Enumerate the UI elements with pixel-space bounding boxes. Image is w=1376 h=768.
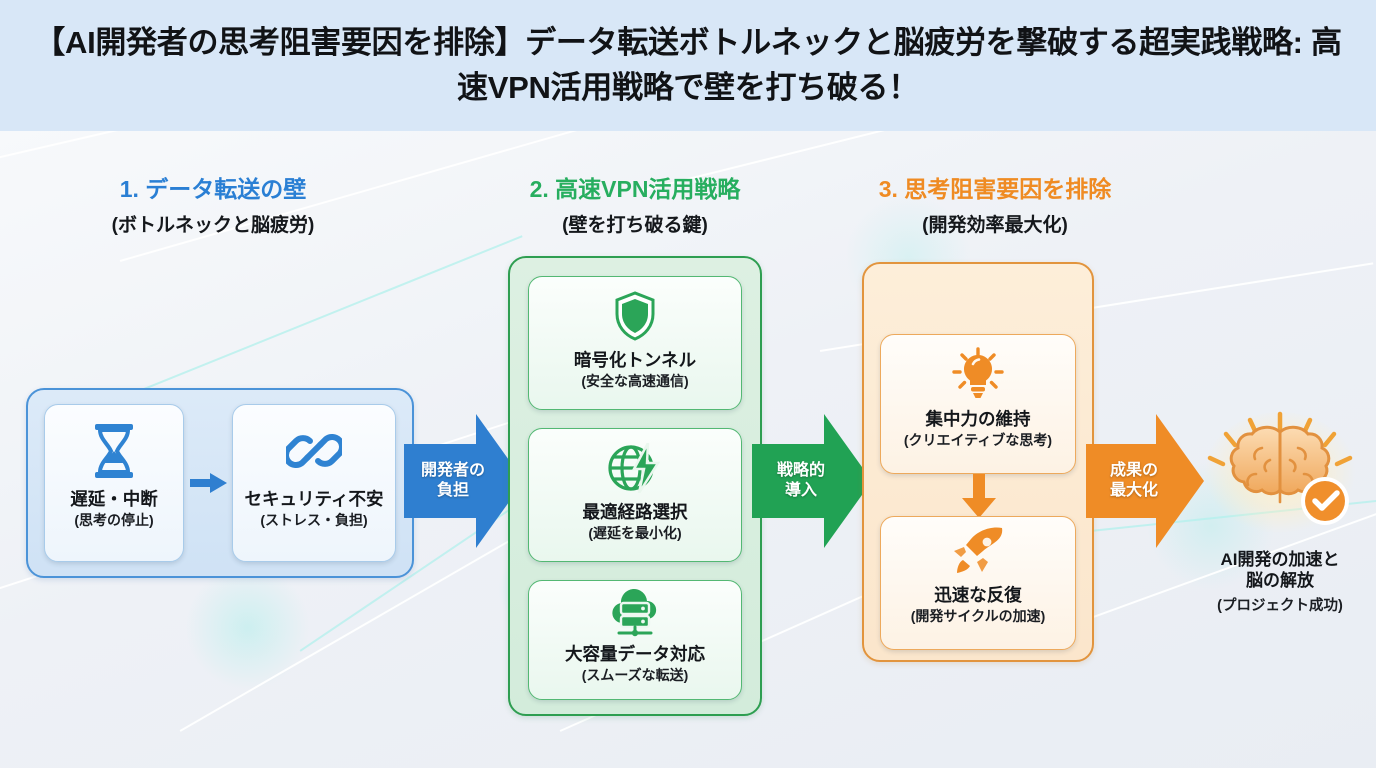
column-heading-benefit-main: 3. 思考阻害要因を排除	[815, 176, 1175, 204]
cloud-server-icon	[607, 589, 663, 637]
chain-link-icon	[286, 423, 342, 479]
page-title: 【AI開発者の思考阻害要因を排除】データ転送ボトルネックと脳疲労を撃破する超実践…	[0, 21, 1376, 109]
column-heading-solution-sub: (壁を打ち破る鍵)	[470, 210, 800, 237]
hourglass-icon	[89, 423, 139, 479]
arrow-label-line2: 負担	[437, 481, 469, 501]
card-optimal-route[interactable]: 最適経路選択 (遅延を最小化)	[528, 428, 742, 562]
column-heading-problem-sub: (ボトルネックと脳疲労)	[48, 210, 378, 237]
column-heading-solution-main: 2. 高速VPN活用戦略	[470, 176, 800, 204]
brain-check-icon	[1192, 408, 1368, 544]
arrow-label-line2: 最大化	[1110, 481, 1158, 501]
arrow-label-line1: 開発者の	[421, 461, 485, 481]
card-subtitle: (スムーズな転送)	[582, 667, 689, 683]
card-rapid-iteration[interactable]: 迅速な反復 (開発サイクルの加速)	[880, 516, 1076, 650]
card-sustained-focus[interactable]: 集中力の維持 (クリエイティブな思考)	[880, 334, 1076, 474]
outcome-block: AI開発の加速と 脳の解放 (プロジェクト成功)	[1192, 408, 1368, 615]
arrow-maximize-results: 成果の 最大化	[1086, 406, 1204, 556]
card-subtitle: (遅延を最小化)	[588, 525, 681, 541]
card-title: 暗号化トンネル	[574, 350, 696, 370]
column-heading-benefit-sub: (開発効率最大化)	[815, 210, 1175, 237]
outcome-subtitle: (プロジェクト成功)	[1192, 594, 1368, 615]
card-security-anxiety[interactable]: セキュリティ不安 (ストレス・負担)	[232, 404, 396, 562]
downward-arrow-icon	[962, 474, 996, 518]
arrow-label: 成果の 最大化	[1086, 406, 1204, 556]
arrow-label: 開発者の 負担	[404, 406, 524, 556]
card-title: 大容量データ対応	[565, 644, 705, 664]
card-title: 集中力の維持	[926, 409, 1031, 429]
inline-arrow-icon	[190, 472, 228, 494]
card-subtitle: (クリエイティブな思考)	[904, 432, 1052, 448]
card-large-data-capacity[interactable]: 大容量データ対応 (スムーズな転送)	[528, 580, 742, 700]
arrow-strategic-adoption: 戦略的 導入	[752, 406, 872, 556]
card-title: 迅速な反復	[934, 585, 1022, 605]
card-encrypted-tunnel[interactable]: 暗号化トンネル (安全な高速通信)	[528, 276, 742, 410]
arrow-label-line2: 導入	[785, 481, 817, 501]
arrow-developer-burden: 開発者の 負担	[404, 406, 524, 556]
card-subtitle: (思考の停止)	[74, 512, 153, 528]
card-subtitle: (開発サイクルの加速)	[911, 608, 1046, 624]
arrow-label: 戦略的 導入	[752, 406, 872, 556]
card-subtitle: (ストレス・負担)	[260, 512, 367, 528]
card-title: セキュリティ不安	[245, 489, 384, 509]
column-heading-problem: 1. データ転送の壁 (ボトルネックと脳疲労)	[48, 176, 378, 237]
arrow-label-line1: 戦略的	[777, 461, 825, 481]
globe-bolt-icon	[608, 443, 662, 493]
rocket-icon	[950, 527, 1006, 579]
arrow-label-line1: 成果の	[1110, 461, 1158, 481]
card-delay-interruption[interactable]: 遅延・中断 (思考の停止)	[44, 404, 184, 562]
column-heading-problem-main: 1. データ転送の壁	[48, 176, 378, 204]
card-subtitle: (安全な高速通信)	[581, 373, 688, 389]
lightbulb-icon	[951, 347, 1005, 401]
card-title: 最適経路選択	[583, 502, 688, 522]
outcome-title-line2: 脳の解放	[1192, 571, 1368, 592]
outcome-title-line1: AI開発の加速と	[1192, 550, 1368, 571]
shield-icon	[613, 291, 657, 341]
card-title: 遅延・中断	[70, 489, 158, 509]
column-heading-solution: 2. 高速VPN活用戦略 (壁を打ち破る鍵)	[470, 176, 800, 237]
header-banner: 【AI開発者の思考阻害要因を排除】データ転送ボトルネックと脳疲労を撃破する超実践…	[0, 0, 1376, 131]
column-heading-benefit: 3. 思考阻害要因を排除 (開発効率最大化)	[815, 176, 1175, 237]
